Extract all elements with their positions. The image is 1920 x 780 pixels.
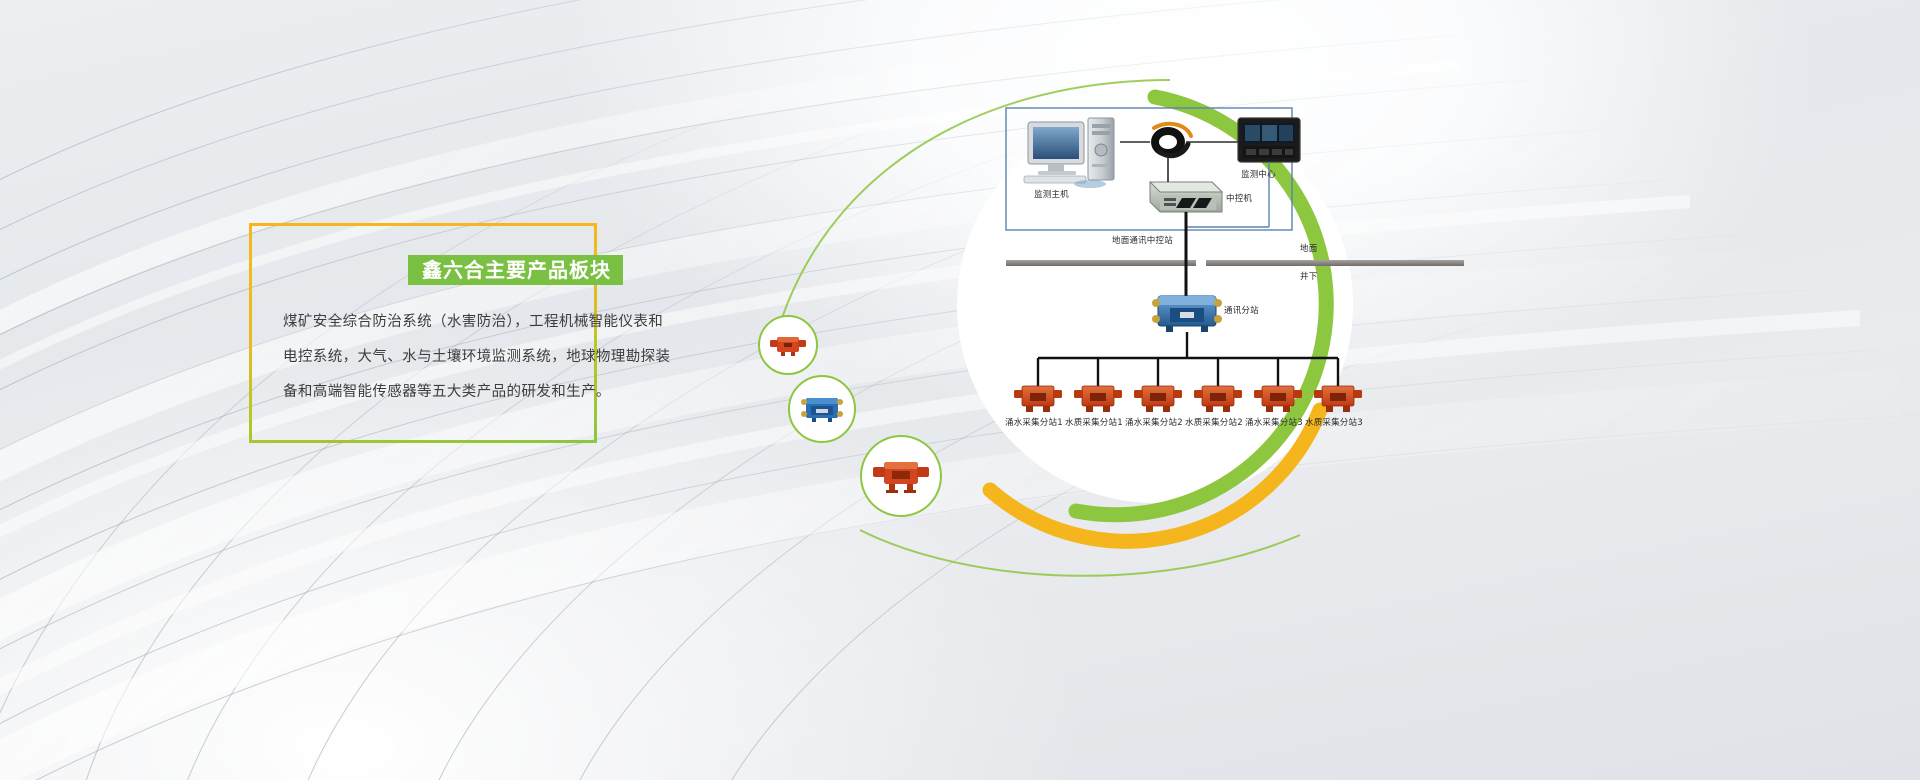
label-underground: 井下 [1300,270,1317,282]
label-surface-box: 地面通讯中控站 [1112,234,1173,246]
bubble-device-orange-small[interactable] [758,315,818,375]
body-line-1: 煤矿安全综合防治系统（水害防治），工程机械智能仪表和 [283,305,713,340]
page-title: 鑫六合主要产品板块 [422,255,611,285]
divider-right [1206,260,1464,266]
blue-device-icon [797,393,847,425]
substation-box [1074,386,1122,412]
body-line-3: 备和高端智能传感器等五大类产品的研发和生产。 [283,375,713,410]
monitoring-center-icon [1238,118,1300,162]
label-substation-5: 涌水采集分站3 [1245,416,1303,428]
label-substation-3: 涌水采集分站2 [1125,416,1183,428]
monitor-host-icon [1024,118,1114,188]
panel-title-band: 鑫六合主要产品板块 [408,255,623,285]
label-monitor-host: 监测主机 [1034,188,1069,200]
label-substation-6: 水质采集分站3 [1305,416,1363,428]
label-comm-substation: 通讯分站 [1224,304,1259,316]
body-line-2: 电控系统，大气、水与土壤环境监测系统，地球物理勘探装 [283,340,713,375]
bubble-device-blue[interactable] [788,375,856,443]
substation-box [1134,386,1182,412]
divider-left [1006,260,1196,266]
label-monitor-center: 监测中心 [1241,168,1276,180]
bubble-device-orange-large[interactable] [860,435,942,517]
label-substation-2: 水质采集分站1 [1065,416,1123,428]
orange-device-icon-small [768,332,808,358]
label-substation-1: 涌水采集分站1 [1005,416,1063,428]
central-control-icon [1150,182,1222,212]
panel-body-text: 煤矿安全综合防治系统（水害防治），工程机械智能仪表和 电控系统，大气、水与土壤环… [283,305,713,410]
substation-box [1254,386,1302,412]
substation-box [1194,386,1242,412]
substation-box [1014,386,1062,412]
orange-device-icon-large [870,454,932,498]
substation-box [1314,386,1362,412]
diagram-svg [1000,100,1470,500]
label-substation-4: 水质采集分站2 [1185,416,1243,428]
label-surface: 地面 [1300,242,1317,254]
comm-substation-icon [1152,296,1222,332]
system-architecture-diagram: 监测主机 监测中心 中控机 地面通讯中控站 地面 井下 通讯分站 涌水采集分站1… [1000,100,1470,500]
substation-row [1014,386,1362,412]
internet-icon [1151,124,1191,157]
label-central-control: 中控机 [1226,192,1252,204]
